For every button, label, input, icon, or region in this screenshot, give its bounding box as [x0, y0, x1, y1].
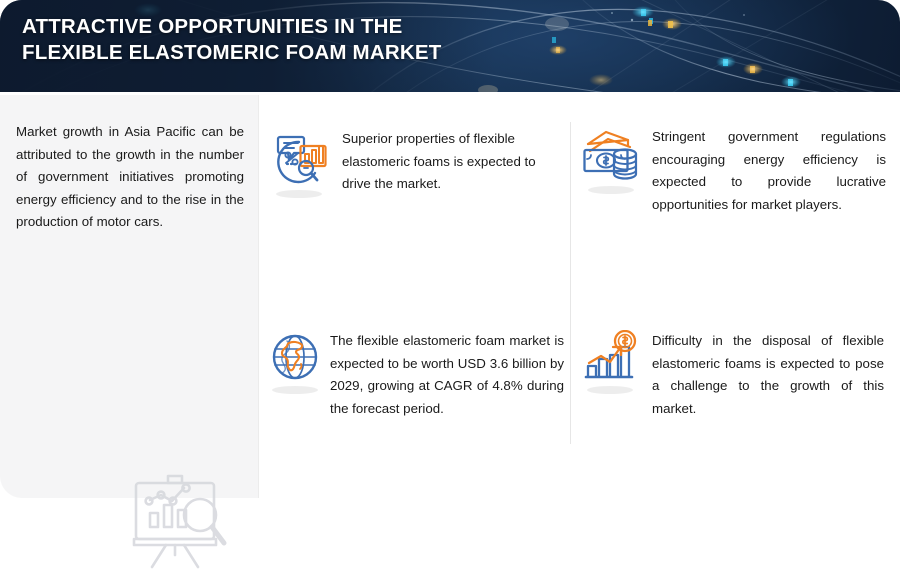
column-divider — [570, 122, 571, 444]
sidebar-paragraph: Market growth in Asia Pacific can be att… — [16, 121, 244, 234]
sidebar-divider — [258, 95, 259, 498]
growth-bar-chart-dollar-icon — [582, 330, 638, 384]
presentation-chart-magnifier-icon — [128, 467, 240, 577]
money-banknotes-coins-icon — [582, 126, 640, 184]
card-icon-wrap — [268, 330, 322, 389]
infographic-page: ATTRACTIVE OPPORTUNITIES IN THE FLEXIBLE… — [0, 0, 900, 498]
page-title: ATTRACTIVE OPPORTUNITIES IN THE FLEXIBLE… — [22, 14, 441, 66]
icon-shadow — [587, 386, 633, 394]
sidebar-panel: Market growth in Asia Pacific can be att… — [0, 95, 258, 498]
card-text: The flexible elastomeric foam market is … — [330, 330, 564, 420]
card-government-regulations: Stringent government regulations encoura… — [582, 126, 886, 216]
card-text: Superior properties of flexible elastome… — [342, 128, 564, 196]
card-icon-wrap — [582, 126, 640, 189]
card-superior-properties: Superior properties of flexible elastome… — [268, 128, 564, 196]
card-icon-wrap — [268, 128, 330, 193]
card-market-value-forecast: The flexible elastomeric foam market is … — [268, 330, 564, 420]
card-text: Difficulty in the disposal of flexible e… — [652, 330, 884, 420]
card-disposal-challenge: Difficulty in the disposal of flexible e… — [582, 330, 886, 420]
icon-shadow — [272, 386, 318, 394]
icon-shadow — [588, 186, 634, 194]
pie-chart-percent-magnifier-icon — [268, 128, 330, 188]
card-text: Stringent government regulations encoura… — [652, 126, 886, 216]
globe-icon — [268, 330, 322, 384]
icon-shadow — [276, 190, 322, 198]
card-icon-wrap — [582, 330, 638, 389]
header-banner: ATTRACTIVE OPPORTUNITIES IN THE FLEXIBLE… — [0, 0, 900, 92]
